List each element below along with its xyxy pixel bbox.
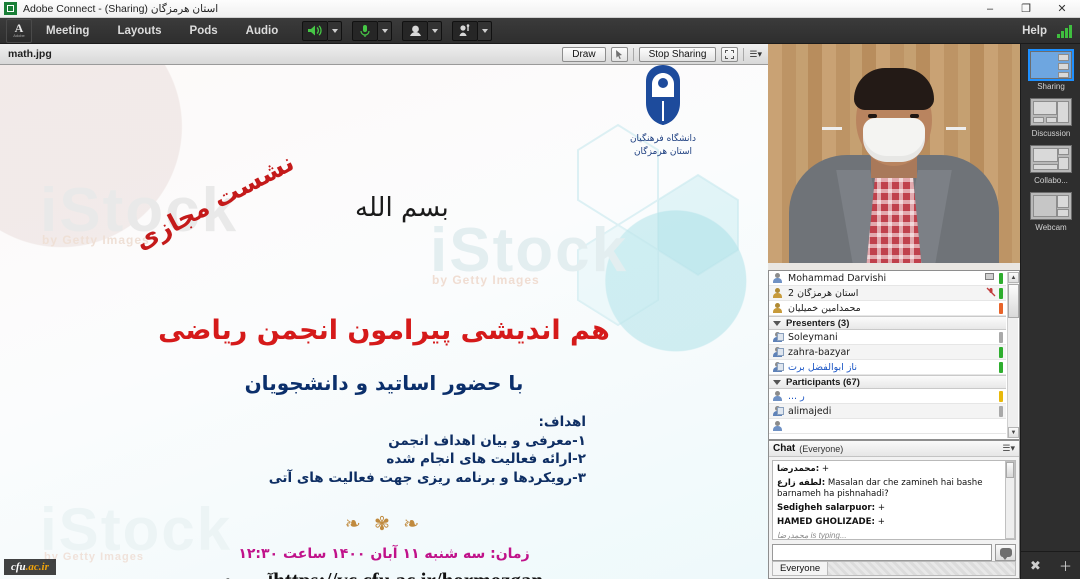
avatar-icon (772, 273, 783, 284)
chat-tabs: Everyone (772, 561, 1016, 576)
muted-mic-icon (986, 287, 996, 300)
raise-hand-control (452, 21, 492, 41)
basmala-calligraphy: بسم الله (355, 193, 449, 223)
menu-audio[interactable]: Audio (232, 18, 293, 44)
status-bar (999, 406, 1003, 417)
draw-button[interactable]: Draw (562, 47, 605, 62)
attendee-name: محمدامین خمیلیان (788, 303, 861, 314)
chat-scrollbar[interactable] (1005, 461, 1015, 539)
group-label: Presenters (3) (786, 318, 849, 329)
cfu-watermark: cfu.ac.ir (4, 559, 56, 575)
scroll-up-icon[interactable]: ▲ (1008, 272, 1019, 283)
goal-item: ۳-رویکردها و برنامه ریزی جهت فعالیت های … (269, 469, 586, 488)
logo-caption-line2: استان هرمزگان (588, 147, 738, 158)
share-pod-controls: Draw Stop Sharing ☰▾ (562, 47, 768, 62)
microphone-dropdown[interactable] (378, 21, 392, 41)
chat-sender: لطفه زارع: (777, 478, 825, 488)
chat-scope: (Everyone) (799, 444, 843, 454)
presenter-figure (789, 100, 999, 270)
attendee-row-presenter[interactable]: Soleymani (769, 330, 1006, 345)
attendee-name: Mohammad Darvishi (788, 273, 886, 284)
adobe-logo-text: Adobe (13, 33, 25, 38)
webcam-video[interactable] (768, 44, 1020, 270)
chat-tab-everyone[interactable]: Everyone (773, 562, 828, 575)
layout-thumbnail (1030, 192, 1072, 220)
goal-item: ۱-معرفی و بیان اهداف انجمن (269, 432, 586, 451)
layout-item-discussion[interactable]: Discussion (1021, 91, 1080, 138)
scrollbar-thumb[interactable] (1008, 284, 1019, 318)
chat-input-row (772, 544, 1016, 561)
attendee-name: ر ... (788, 391, 805, 402)
slide-subtitle: با حضور اساتید و دانشجویان (0, 371, 768, 395)
menu-toolbar: A Adobe Meeting Layouts Pods Audio (0, 18, 1080, 44)
chevron-down-icon (773, 321, 781, 326)
attendee-status (999, 362, 1003, 373)
chat-sender: محمدرضا: (777, 464, 819, 474)
attendee-name: Soleymani (788, 332, 838, 343)
attendee-status (999, 406, 1003, 417)
shared-slide[interactable]: iStock by Getty Images iStock by Getty I… (0, 65, 768, 579)
raise-hand-dropdown[interactable] (478, 21, 492, 41)
chat-pod: Chat (Everyone) ☰▾ محمدرضا: + لطفه زارع:… (768, 440, 1020, 579)
goal-item: ۲-ارائه فعالیت های انجام شده (269, 450, 586, 469)
attendee-status (999, 332, 1003, 343)
attendee-row-participant[interactable] (769, 419, 1006, 434)
status-bar (999, 273, 1003, 284)
menu-meeting[interactable]: Meeting (32, 18, 103, 44)
shared-file-name: math.jpg (8, 48, 52, 60)
microphone-control (352, 21, 392, 41)
minimize-button[interactable]: – (972, 0, 1008, 18)
divider (743, 48, 744, 61)
chat-message: لطفه زارع: Masalan dar che zamineh hai b… (777, 478, 1011, 500)
attendee-row-presenter[interactable]: zahra-bazyar (769, 345, 1006, 360)
layout-thumbnail (1030, 145, 1072, 173)
adobe-logo-letter: A (15, 23, 24, 33)
chat-title: Chat (773, 443, 795, 454)
attendee-status (985, 272, 1003, 285)
window-title: استان هرمزگان (Sharing) - Adobe Connect (23, 3, 218, 15)
menu-help[interactable]: Help (1012, 25, 1057, 37)
right-pod-column: Mohammad Darvishi استان هرمزگان 2 (768, 44, 1020, 579)
microphone-icon[interactable] (352, 21, 378, 41)
speaker-icon[interactable] (302, 21, 328, 41)
layout-label: Sharing (1021, 82, 1080, 91)
webcam-icon[interactable] (402, 21, 428, 41)
chat-header: Chat (Everyone) ☰▾ (769, 441, 1019, 457)
status-bar (999, 391, 1003, 402)
ornament-divider: ❧ ✾ ❧ (0, 513, 768, 536)
chat-text: + (878, 517, 885, 527)
chat-input[interactable] (772, 544, 992, 561)
chat-message: محمدرضا: + (777, 464, 1011, 475)
layout-label: Collabo... (1021, 176, 1080, 185)
group-header-presenters[interactable]: Presenters (3) (769, 316, 1006, 330)
address-url: https://vc.cfu.ac.ir/hormozgan (273, 568, 543, 579)
chat-sender: HAMED GHOLIZADE: (777, 517, 875, 527)
avatar-icon (772, 391, 783, 402)
webcam-dropdown[interactable] (428, 21, 442, 41)
logo-caption-line1: دانشگاه فرهنگیان (588, 134, 738, 145)
attendee-row-host[interactable]: محمدامین خمیلیان (769, 301, 1006, 316)
attendee-list[interactable]: Mohammad Darvishi استان هرمزگان 2 (769, 271, 1006, 439)
face-mask (863, 118, 925, 162)
scrollbar-thumb[interactable] (1006, 462, 1014, 478)
status-bar (999, 303, 1003, 314)
layout-item-webcam[interactable]: Webcam (1021, 185, 1080, 232)
attendee-status (999, 303, 1003, 314)
speaker-dropdown[interactable] (328, 21, 342, 41)
chat-sender: Sedigheh salarpuor: (777, 503, 875, 513)
status-bar (999, 362, 1003, 373)
attendee-status (986, 287, 1003, 300)
attendee-row-presenter[interactable]: ناز ابوالفضل برت (769, 360, 1006, 375)
attendee-name: استان هرمزگان 2 (788, 288, 858, 299)
desk-edge (768, 263, 1020, 270)
avatar-icon (772, 406, 783, 417)
pod-menu-icon[interactable]: ☰▾ (749, 50, 762, 59)
chat-message: HAMED GHOLIZADE: + (777, 517, 1011, 528)
layout-thumbnail (1030, 51, 1072, 79)
group-header-participants[interactable]: Participants (67) (769, 375, 1006, 389)
layout-item-sharing[interactable]: Sharing (1021, 44, 1080, 91)
window-titlebar: استان هرمزگان (Sharing) - Adobe Connect … (0, 0, 1080, 18)
chevron-down-icon (773, 380, 781, 385)
menu-layouts[interactable]: Layouts (103, 18, 175, 44)
cfu-watermark-white: cfu (11, 561, 26, 573)
attendee-row-participant[interactable]: ر ... (769, 389, 1006, 404)
layout-label: Webcam (1021, 223, 1080, 232)
chat-message: Sedigheh salarpuor: + (777, 503, 1011, 514)
typing-indicator: محمدرضا is typing... (777, 531, 1011, 540)
slide-address: https://vc.cfu.ac.ir/hormozganآدرس: (0, 568, 768, 579)
raise-hand-icon[interactable] (452, 21, 478, 41)
fullscreen-icon[interactable] (721, 47, 738, 62)
attendee-status (999, 347, 1003, 358)
webcam-control (402, 21, 442, 41)
attendee-row-participant[interactable]: alimajedi (769, 404, 1006, 419)
adobe-connect-window: استان هرمزگان (Sharing) - Adobe Connect … (0, 0, 1080, 579)
menu-pods[interactable]: Pods (176, 18, 232, 44)
avatar-icon (772, 421, 783, 432)
avatar-icon (772, 362, 783, 373)
slide-time: زمان: سه شنبه ۱۱ آبان ۱۴۰۰ ساعت ۱۲:۳۰ (0, 546, 768, 562)
chat-text: + (822, 464, 829, 474)
attendee-row-host[interactable]: استان هرمزگان 2 (769, 286, 1006, 301)
chat-messages[interactable]: محمدرضا: + لطفه زارع: Masalan dar che za… (772, 460, 1016, 540)
chat-text: + (878, 503, 885, 513)
send-message-icon[interactable] (995, 544, 1016, 561)
farhangian-university-logo (634, 65, 692, 127)
avatar-icon (772, 303, 783, 314)
add-layout-icon[interactable]: ＋ (1059, 556, 1072, 575)
attendee-row-host[interactable]: Mohammad Darvishi (769, 271, 1006, 286)
slide-goals: اهداف: ۱-معرفی و بیان اهداف انجمن ۲-ارائ… (269, 413, 586, 487)
status-bar (999, 332, 1003, 343)
signal-strength-icon[interactable] (1057, 24, 1072, 38)
stock-watermark-sub: by Getty Images (432, 273, 540, 287)
address-label: آدرس: (225, 573, 273, 579)
layout-item-collaboration[interactable]: Collabo... (1021, 138, 1080, 185)
layout-bar: Sharing Discussion Collabo... (1020, 44, 1080, 579)
speaker-control (302, 21, 342, 41)
divider (633, 48, 634, 61)
attendee-scrollbar[interactable]: ▲ ▼ (1007, 272, 1018, 438)
status-bar (999, 347, 1003, 358)
status-bar (999, 288, 1003, 299)
app-icon (4, 2, 17, 15)
attendee-name: alimajedi (788, 406, 831, 417)
maximize-button[interactable]: ❐ (1008, 0, 1044, 18)
slide-title: هم اندیشی پیرامون انجمن ریاضی (0, 315, 768, 346)
close-layout-icon[interactable]: ✖ (1030, 558, 1041, 574)
close-button[interactable]: ✕ (1044, 0, 1080, 18)
avatar-icon (772, 332, 783, 343)
scroll-down-icon[interactable]: ▼ (1008, 427, 1019, 438)
attendee-status (999, 391, 1003, 402)
pointer-icon[interactable] (611, 47, 628, 62)
layout-bar-actions: ✖ ＋ (1021, 551, 1080, 579)
avatar-icon (772, 288, 783, 299)
share-pod-header: math.jpg Draw Stop Sharing ☰▾ (0, 44, 768, 65)
stop-sharing-button[interactable]: Stop Sharing (639, 47, 717, 62)
pod-menu-icon[interactable]: ☰▾ (1002, 443, 1015, 454)
attendee-name: zahra-bazyar (788, 347, 850, 358)
layout-label: Discussion (1021, 129, 1080, 138)
group-label: Participants (67) (786, 377, 860, 388)
avatar-icon (772, 347, 783, 358)
attendee-pod: Mohammad Darvishi استان هرمزگان 2 (768, 270, 1020, 440)
adobe-logo: A Adobe (6, 19, 32, 43)
attendee-name: ناز ابوالفضل برت (788, 362, 857, 373)
goals-header: اهداف: (269, 413, 586, 432)
university-logo-block: دانشگاه فرهنگیان استان هرمزگان (588, 65, 738, 158)
window-controls: – ❐ ✕ (972, 0, 1080, 18)
cfu-watermark-orange: .ac.ir (26, 561, 49, 573)
layout-thumbnail (1030, 98, 1072, 126)
shared-screen-icon (985, 272, 996, 285)
